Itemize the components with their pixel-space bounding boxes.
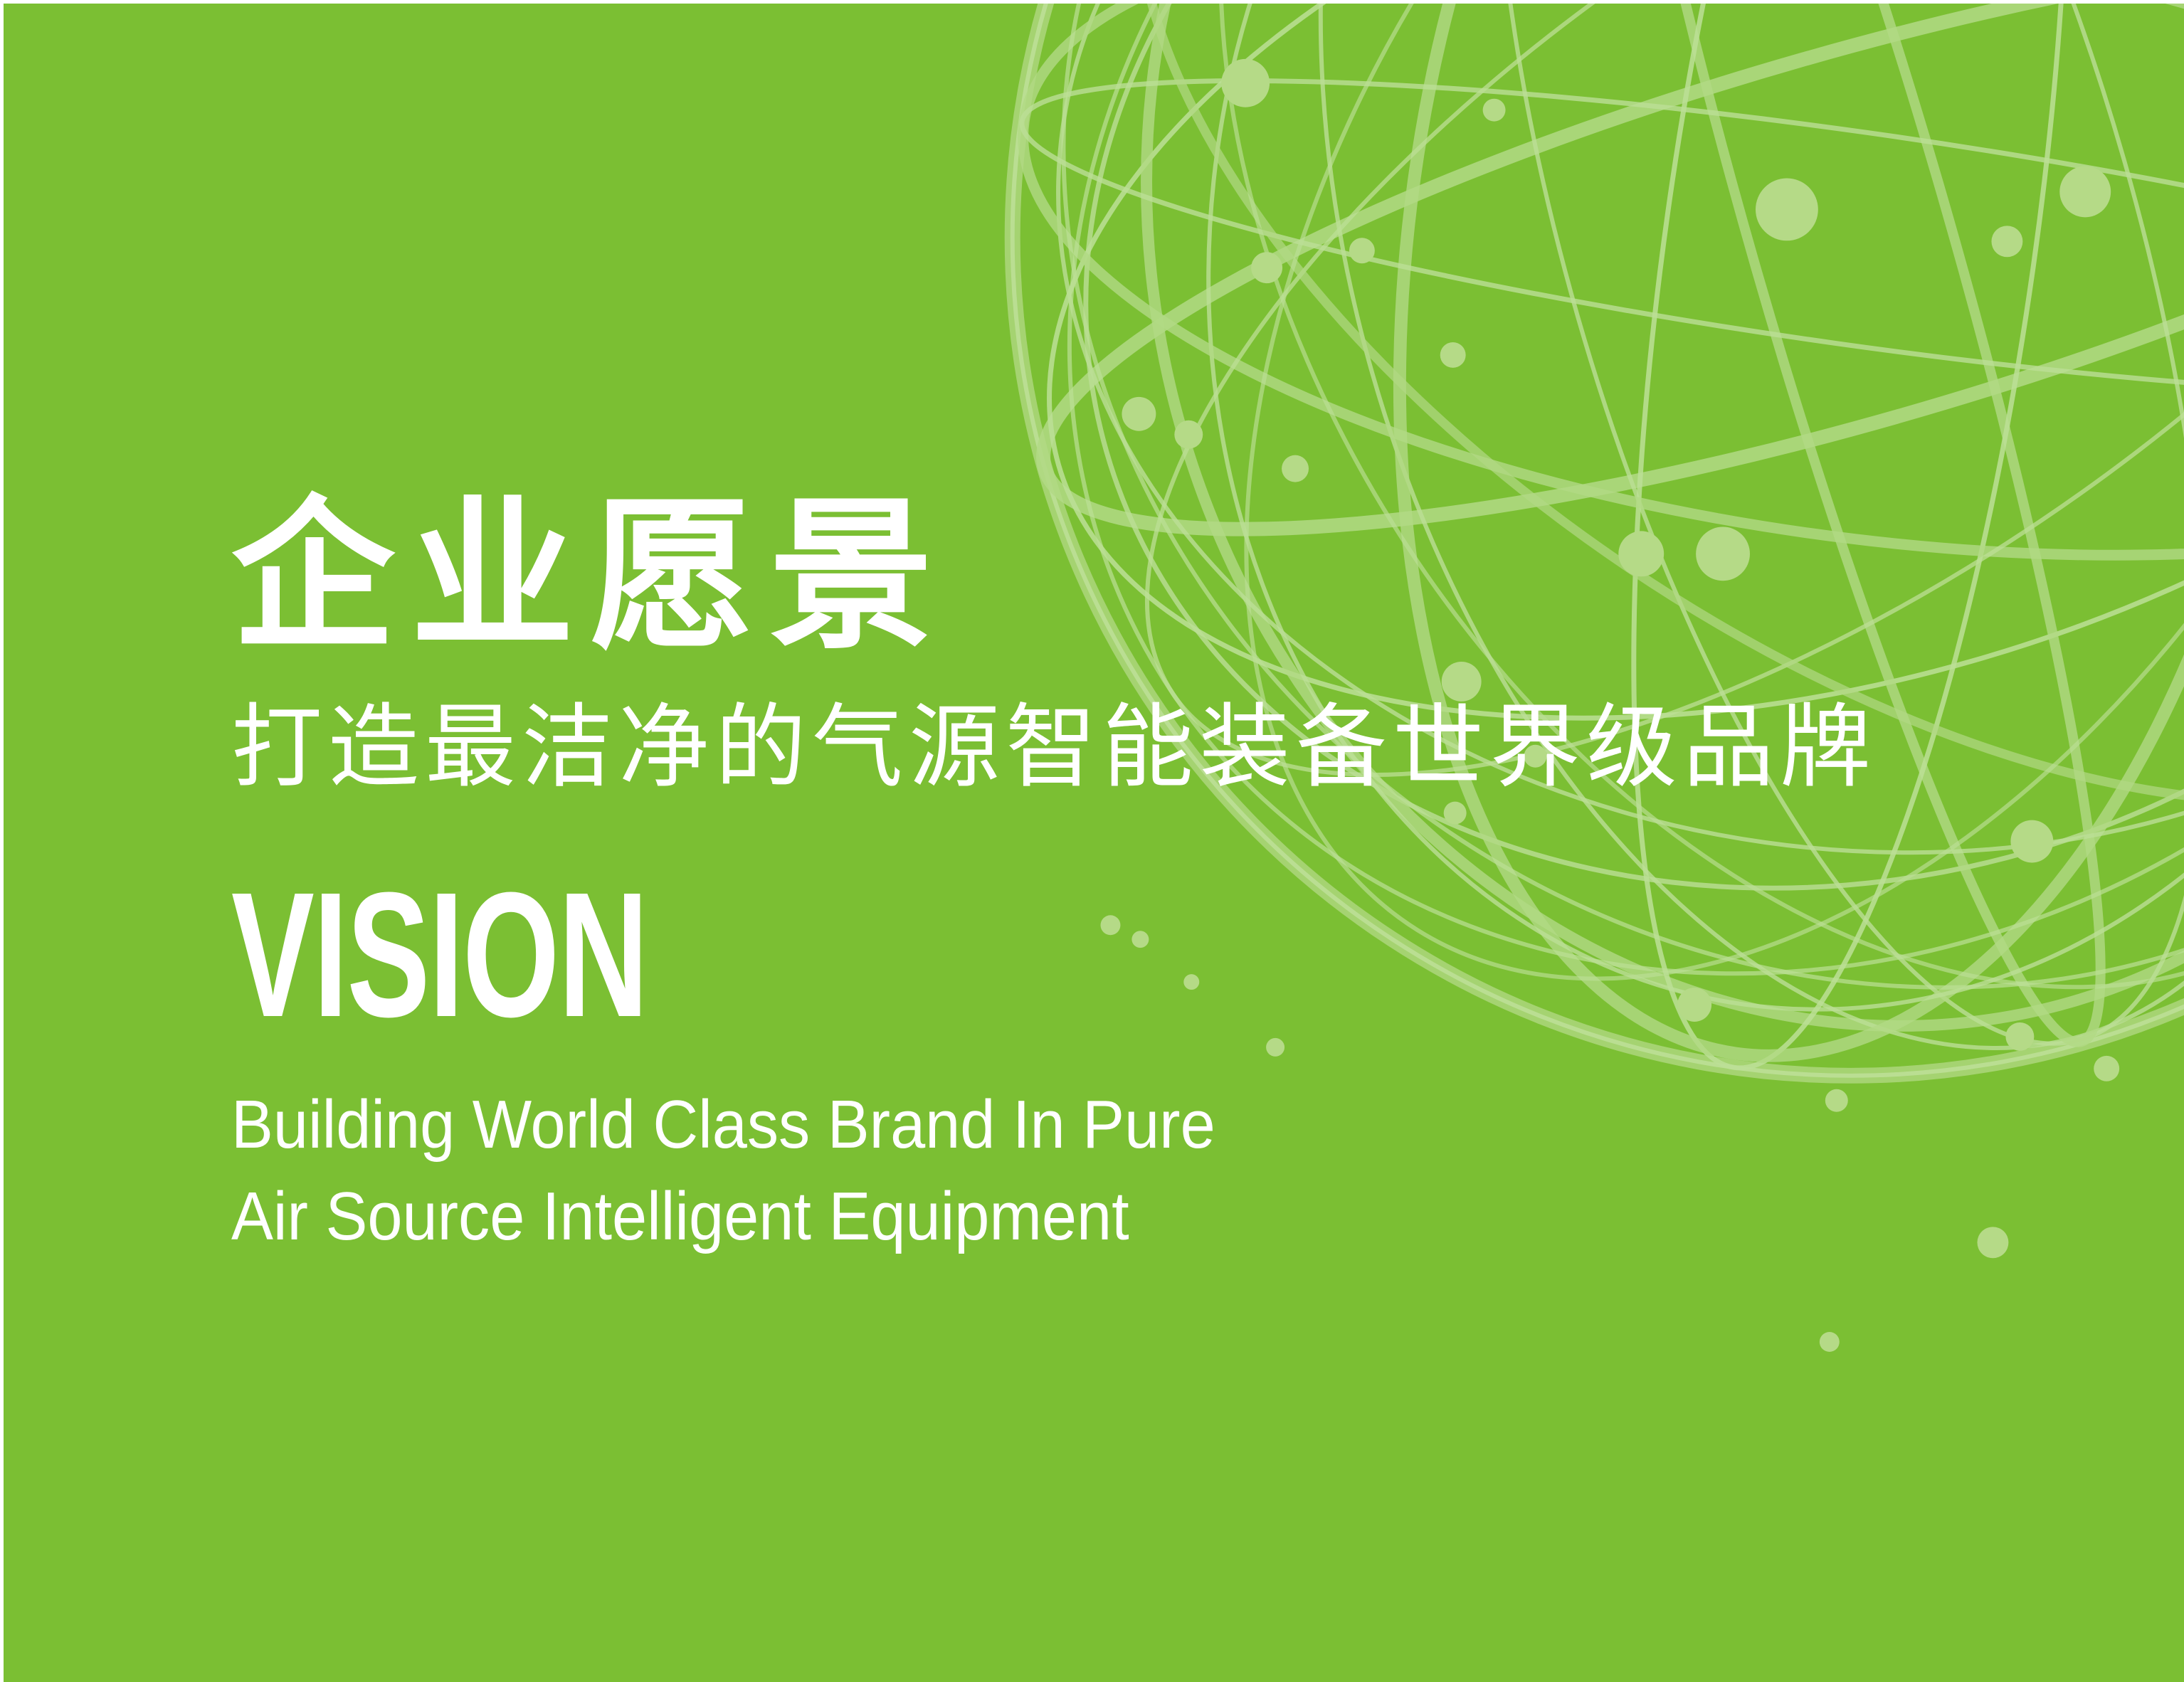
subtitle-chinese: 打造最洁净的气源智能装备世界级品牌 bbox=[231, 702, 1939, 793]
english-body: Building World Class Brand In Pure Air S… bbox=[231, 1079, 1803, 1262]
vision-text-block: 企业愿景 打造最洁净的气源智能装备世界级品牌 VISION Building W… bbox=[231, 494, 1939, 1262]
page-title-chinese: 企业愿景 bbox=[231, 494, 1939, 658]
english-body-line-1: Building World Class Brand In Pure bbox=[231, 1079, 1803, 1171]
page-title-english: VISION bbox=[231, 873, 1427, 1037]
english-body-line-2: Air Source Intelligent Equipment bbox=[231, 1171, 1803, 1263]
vision-slide: 企业愿景 打造最洁净的气源智能装备世界级品牌 VISION Building W… bbox=[0, 0, 2184, 1682]
